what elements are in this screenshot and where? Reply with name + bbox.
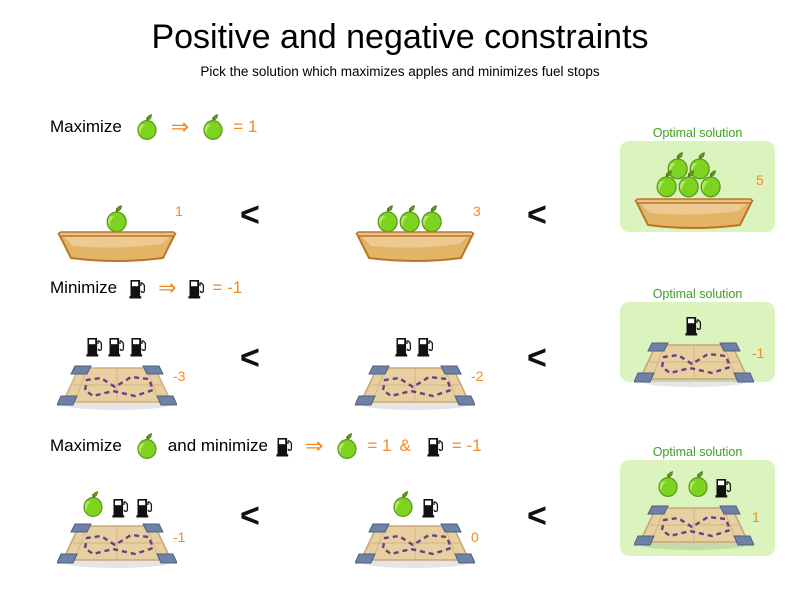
apple-icon — [655, 468, 681, 498]
row-2-header: Minimize ⇒ = -1 — [50, 271, 242, 305]
row-3-solution-3-score: 1 — [752, 510, 760, 524]
row-3-result-value: = 1 — [367, 436, 391, 456]
row-1-solution-1-score: 1 — [175, 204, 183, 218]
row-2-solution-2-score: -2 — [471, 369, 483, 383]
row-2-solution-3[interactable]: -1 — [620, 302, 775, 382]
row-3-mid-label: and minimize — [168, 436, 268, 456]
double-arrow-right-icon: ⇒ — [305, 435, 323, 457]
apple-and-fuel-group — [80, 486, 154, 518]
map-with-fuel-stops: -1 — [634, 306, 754, 387]
row-1-header: Maximize ⇒ = 1 — [50, 110, 257, 144]
row-2-optimal-wrap: Optimal solution — [620, 286, 775, 382]
row-1-optimal-wrap: Optimal solution — [620, 125, 775, 232]
fuel-pump-icon — [188, 278, 206, 299]
fuel-pump-icon — [136, 497, 154, 518]
page-header: Positive and negative constraints Pick t… — [0, 0, 800, 82]
fuel-stop-group — [685, 306, 703, 336]
row-3-ampersand: & — [400, 436, 411, 456]
row-2-solutions: -3 < — [0, 305, 800, 425]
map-with-apples-and-fuel-stops: 0 — [355, 486, 475, 568]
row-1-solution-1[interactable]: 1 — [42, 144, 192, 264]
page-title: Positive and negative constraints — [0, 16, 800, 58]
row-3-optimal-wrap: Optimal solution — [620, 444, 775, 556]
map-icon — [634, 337, 754, 387]
fuel-stop-group — [395, 327, 435, 357]
bowl-icon — [53, 178, 181, 264]
row-3-comparator-1: < — [240, 499, 260, 533]
fuel-pump-icon — [685, 315, 703, 336]
map-with-apples-and-fuel-stops: 1 — [634, 466, 754, 550]
apple-icon — [685, 468, 711, 498]
row-2-lead-label: Minimize — [50, 278, 117, 298]
row-1-solution-2-score: 3 — [473, 204, 481, 218]
row-1-result-value: = 1 — [233, 117, 257, 137]
row-3-solution-1[interactable]: -1 — [42, 463, 192, 568]
apple-icon — [134, 113, 160, 141]
row-2-solution-1[interactable]: -3 — [42, 305, 192, 410]
row-1-solution-3[interactable]: 5 — [620, 141, 775, 232]
apple-and-fuel-group — [655, 466, 733, 498]
page-subtitle: Pick the solution which maximizes apples… — [0, 62, 800, 82]
row-2-comparator-2: < — [527, 341, 547, 375]
row-2-comparator-1: < — [240, 341, 260, 375]
double-arrow-right-icon: ⇒ — [171, 116, 189, 138]
bowl-with-apples: 5 — [630, 143, 758, 231]
row-3-lead-label: Maximize — [50, 436, 122, 456]
fuel-pump-icon — [108, 336, 126, 357]
map-icon — [355, 360, 475, 410]
map-with-apples-and-fuel-stops: -1 — [57, 486, 177, 568]
map-icon — [634, 500, 754, 550]
row-1-comparator-2: < — [527, 198, 547, 232]
row-3-header: Maximize and minimize ⇒ = 1 & — [50, 429, 482, 463]
apple-and-fuel-group — [390, 486, 440, 518]
fuel-pump-icon — [276, 436, 294, 457]
row-3-comparator-2: < — [527, 499, 547, 533]
apple-icon — [390, 488, 416, 518]
fuel-pump-icon — [417, 336, 435, 357]
row-3-solution-1-score: -1 — [173, 530, 185, 544]
bowl-with-apples: 1 — [53, 178, 181, 264]
row-1-lead-label: Maximize — [50, 117, 122, 137]
apple-icon — [80, 488, 106, 518]
bowl-with-apples: 3 — [351, 178, 479, 264]
double-arrow-right-icon: ⇒ — [158, 277, 176, 299]
fuel-stop-group — [86, 327, 148, 357]
row-2-solution-2[interactable]: -2 — [340, 305, 490, 410]
fuel-pump-icon — [715, 477, 733, 498]
row-3-optimal-label: Optimal solution — [620, 444, 775, 460]
apple-icon — [200, 113, 226, 141]
row-2-solution-1-score: -3 — [173, 369, 185, 383]
row-1-solution-2[interactable]: 3 — [340, 144, 490, 264]
row-3-solution-2-score: 0 — [471, 530, 479, 544]
map-with-fuel-stops: -2 — [355, 327, 475, 410]
apple-icon — [334, 432, 360, 460]
map-icon — [57, 360, 177, 410]
row-2-result-value: = -1 — [213, 278, 243, 298]
row-1-comparator-1: < — [240, 198, 260, 232]
row-2-solution-3-score: -1 — [752, 346, 764, 360]
row-2-optimal-label: Optimal solution — [620, 286, 775, 302]
map-with-fuel-stops: -3 — [57, 327, 177, 410]
apple-icon — [134, 432, 160, 460]
row-1-optimal-label: Optimal solution — [620, 125, 775, 141]
row-3-solutions: -1 < — [0, 463, 800, 583]
fuel-pump-icon — [422, 497, 440, 518]
fuel-pump-icon — [129, 278, 147, 299]
bowl-icon — [351, 178, 479, 264]
row-3-solution-2[interactable]: 0 — [340, 463, 490, 568]
fuel-pump-icon — [130, 336, 148, 357]
row-1-solution-3-score: 5 — [756, 173, 764, 187]
map-icon — [57, 518, 177, 568]
fuel-pump-icon — [427, 436, 445, 457]
fuel-pump-icon — [86, 336, 104, 357]
row-3-result-value-2: = -1 — [452, 436, 482, 456]
bowl-icon — [630, 143, 758, 231]
fuel-pump-icon — [112, 497, 130, 518]
row-1-solutions: 1 < — [0, 144, 800, 264]
row-3-solution-3[interactable]: 1 — [620, 460, 775, 556]
fuel-pump-icon — [395, 336, 413, 357]
map-icon — [355, 518, 475, 568]
